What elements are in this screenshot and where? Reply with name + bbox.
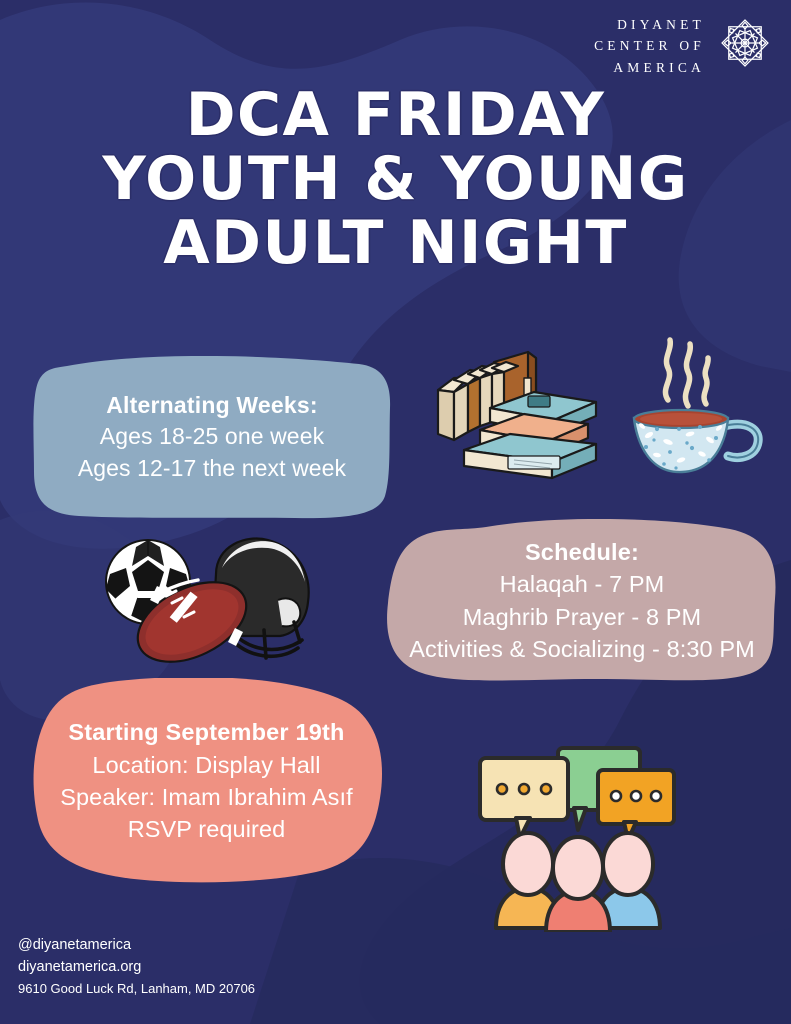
- alternating-weeks-heading: Alternating Weeks:: [106, 390, 318, 421]
- speech-bubble-cream: [480, 758, 568, 838]
- schedule-row-1: Halaqah - 7 PM: [500, 568, 665, 600]
- alternating-weeks-row-1: Ages 18-25 one week: [100, 421, 324, 453]
- schedule-row-3: Activities & Socializing - 8:30 PM: [409, 633, 755, 665]
- sports-equipment-icon: [88, 530, 323, 670]
- event-row-3: RSVP required: [128, 813, 286, 845]
- brand-line-2: CENTER OF: [594, 35, 705, 56]
- schedule-heading: Schedule:: [525, 537, 639, 568]
- schedule-card: Schedule: Halaqah - 7 PM Maghrib Prayer …: [386, 519, 778, 683]
- steaming-teacup-icon: [624, 330, 769, 485]
- poster-canvas: DIYANET CENTER OF AMERICA: [0, 0, 791, 1024]
- brand-line-3: AMERICA: [594, 57, 705, 78]
- brand-line-1: DIYANET: [594, 14, 705, 35]
- footer-website: diyanetamerica.org: [18, 957, 255, 979]
- people-speech-bubbles-icon: [474, 742, 679, 932]
- footer-handle: @diyanetamerica: [18, 935, 255, 957]
- event-heading: Starting September 19th: [68, 717, 344, 748]
- schedule-row-2: Maghrib Prayer - 8 PM: [463, 601, 701, 633]
- person-coral: [546, 837, 610, 932]
- alternating-weeks-row-2: Ages 12-17 the next week: [78, 453, 346, 485]
- eight-pointed-star-icon: [717, 15, 773, 77]
- speech-bubble-orange: [598, 770, 674, 840]
- stack-of-books-icon: [424, 330, 614, 485]
- event-row-1: Location: Display Hall: [92, 749, 320, 781]
- brand-wordmark: DIYANET CENTER OF AMERICA: [594, 14, 705, 78]
- alternating-weeks-card: Alternating Weeks: Ages 18-25 one week A…: [33, 356, 391, 519]
- footer-contact: @diyanetamerica diyanetamerica.org 9610 …: [18, 935, 255, 998]
- event-row-2: Speaker: Imam Ibrahim Asıf: [60, 781, 353, 813]
- footer-address: 9610 Good Luck Rd, Lanham, MD 20706: [18, 979, 255, 999]
- event-details-card: Starting September 19th Location: Displa…: [30, 678, 383, 885]
- brand-logo: DIYANET CENTER OF AMERICA: [594, 14, 773, 78]
